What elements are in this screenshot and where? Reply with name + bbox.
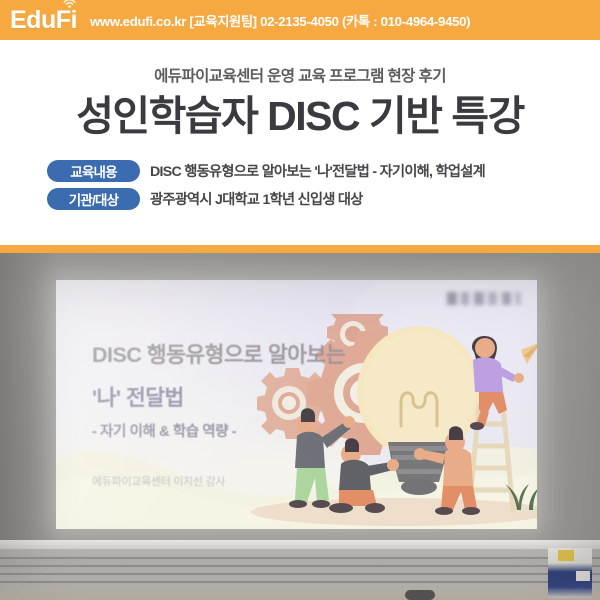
info-row-content: 교육내용 DISC 행동유형으로 알아보는 '나'전달법 - 자기이해, 학업설… xyxy=(47,160,600,182)
corner-equipment-panel xyxy=(576,571,590,581)
info-row-audience: 기관/대상 광주광역시 J대학교 1학년 신입생 대상 xyxy=(47,188,600,210)
edufi-logo: EduFi xyxy=(10,8,83,33)
wifi-icon xyxy=(63,0,76,9)
badge-org-audience: 기관/대상 xyxy=(47,188,140,210)
wall-slat xyxy=(0,581,600,583)
wall-ledge xyxy=(0,540,600,549)
page-title: 성인학습자 DISC 기반 특강 xyxy=(0,94,600,140)
info-text-audience: 광주광역시 J대학교 1학년 신입생 대상 xyxy=(150,189,363,209)
wall-shadow-right xyxy=(530,253,600,547)
badge-education-content: 교육내용 xyxy=(47,160,140,182)
slide-corner-logo xyxy=(447,292,521,305)
wall-slat xyxy=(0,557,600,559)
paper-plane-icon xyxy=(521,342,537,364)
slide-title-line1: DISC 행동유형으로 알아보는 xyxy=(92,338,345,369)
slide-subtitle-line: - 자기 이해 & 학습 역량 - xyxy=(92,420,236,441)
wall-shadow-left xyxy=(0,253,60,547)
title-section: 에듀파이교육센터 운영 교육 프로그램 현장 후기 성인학습자 DISC 기반 … xyxy=(0,40,600,245)
page-subtitle: 에듀파이교육센터 운영 교육 프로그램 현장 후기 xyxy=(0,64,600,86)
corner-equipment-label xyxy=(558,550,574,561)
projection-screen: DISC 행동유형으로 알아보는 '나' 전달법 - 자기 이해 & 학습 역량… xyxy=(56,280,537,529)
desk-object xyxy=(405,590,435,600)
lecture-photo: DISC 행동유형으로 알아보는 '나' 전달법 - 자기 이해 & 학습 역량… xyxy=(0,253,600,600)
contact-info: www.edufi.co.kr [교육지원팀] 02-2135-4050 (카톡… xyxy=(90,11,470,30)
orange-divider xyxy=(0,245,600,253)
slide-title-line2: '나' 전달법 xyxy=(92,381,184,412)
logo-wordmark: EduFi xyxy=(10,8,77,33)
slide-presenter-text: 에듀파이교육센터 이지선 강사 xyxy=(92,473,225,489)
wall-slat xyxy=(0,565,600,567)
info-text-content: DISC 행동유형으로 알아보는 '나'전달법 - 자기이해, 학업설계 xyxy=(150,161,485,181)
wall-slat xyxy=(0,573,600,575)
lower-wall-panel xyxy=(0,549,600,600)
promo-card: EduFi www.edufi.co.kr [교육지원팀] 02-2135-40… xyxy=(0,0,600,600)
slide-background: DISC 행동유형으로 알아보는 '나' 전달법 - 자기 이해 & 학습 역량… xyxy=(56,280,537,529)
info-list: 교육내용 DISC 행동유형으로 알아보는 '나'전달법 - 자기이해, 학업설… xyxy=(0,160,600,210)
header-bar: EduFi www.edufi.co.kr [교육지원팀] 02-2135-40… xyxy=(0,0,600,40)
